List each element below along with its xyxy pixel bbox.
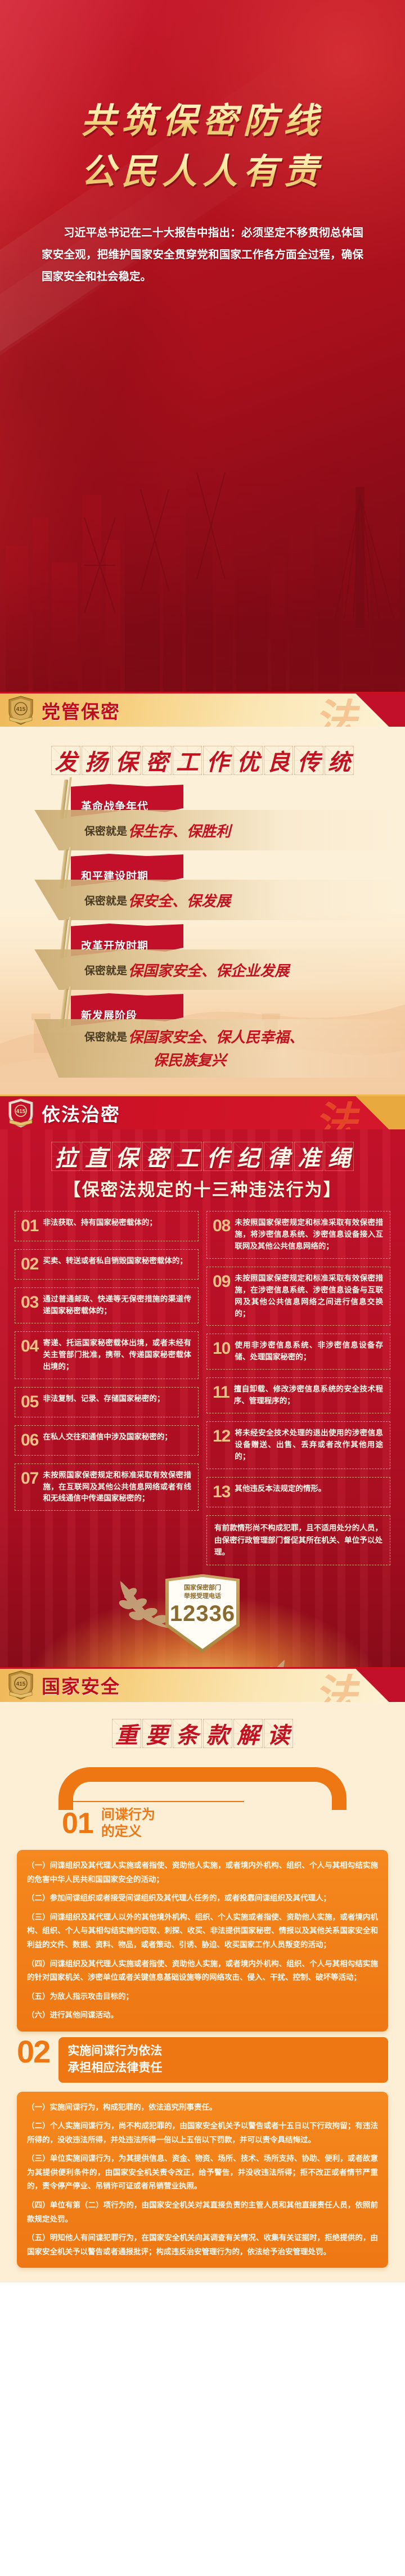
article-02-number: 02 <box>17 2037 49 2066</box>
violation-number: 06 <box>21 1431 38 1449</box>
violation-number: 13 <box>213 1483 230 1501</box>
section-header-rule-of-law: 415 依法治密 法 <box>0 1095 405 1129</box>
brush-char: 拉 <box>51 1142 80 1171</box>
violation-item: 05 非法复制、记录、存储国家秘密的； <box>15 1387 199 1417</box>
article-01-title-line-2: 的定义 <box>101 1823 155 1841</box>
violation-item: 09 未按照国家保密规定和标准采取有效保密措施，在涉密信息系统、涉密信息设备与互… <box>206 1267 390 1326</box>
laurel-right-icon <box>226 1653 294 1667</box>
violation-number: 07 <box>21 1470 38 1487</box>
brush-char: 保 <box>112 1142 141 1171</box>
article-02-content: （一）实施间谍行为，构成犯罪的，依法追究刑事责任。 （二）个人实施间谍行为，尚不… <box>17 2092 388 2268</box>
article-01-paragraph: （六）进行其他间谍活动。 <box>27 2008 378 2023</box>
brush-char: 优 <box>233 746 263 775</box>
brush-char: 扬 <box>82 746 111 775</box>
header-corner-accent <box>339 692 405 727</box>
article-02-title-line-1: 实施间谍行为依法 <box>67 2043 379 2060</box>
shield-badge-icon: 415 <box>8 1098 34 1128</box>
brush-char: 款 <box>203 1719 232 1748</box>
brush-char: 良 <box>264 746 293 775</box>
violation-text: 通过普通邮政、快递等无保密措施的渠道传递国家秘密载体的； <box>43 1294 191 1317</box>
violation-item: 12 将未经安全技术处理的退出使用的涉密信息设备赠送、出售、丢弃或者改作其他用途… <box>206 1421 390 1469</box>
article-01-heading: 01 间谍行为 的定义 <box>58 1801 244 1841</box>
era-prefix: 保密就是 <box>84 965 127 977</box>
law-subtitle: 【保密法规定的十三种违法行为】 <box>0 1176 405 1201</box>
violation-text: 未按照国家保密规定和标准采取有效保密措施，将涉密信息系统、涉密信息设备接入互联网… <box>235 1217 383 1253</box>
era-list: 革命战争年代 保密就是保生存、保胜利 和平建设时期 <box>0 781 405 1095</box>
violation-text: 其他违反本法规定的情形。 <box>235 1483 326 1495</box>
violation-item: 02 买卖、转送或者私自销毁国家秘密载体的； <box>15 1249 199 1280</box>
brush-char: 律 <box>264 1142 293 1171</box>
era-highlight: 保国家安全、保企业发展 <box>128 963 289 979</box>
article-02-paragraph: （二）个人实施间谍行为，尚不构成犯罪的，由国家安全机关予以警告或者十五日以下行政… <box>27 2119 378 2147</box>
brush-char: 绳 <box>325 1142 354 1171</box>
violation-text: 未按照国家保密规定和标准采取有效保密措施，在涉密信息系统、涉密信息设备与互联网及… <box>235 1273 383 1320</box>
era-prefix: 保密就是 <box>84 826 127 837</box>
violation-number: 12 <box>213 1427 230 1445</box>
violation-text: 使用非涉密信息系统、非涉密信息设备存储、处理国家秘密的； <box>235 1340 383 1363</box>
violation-text: 将未经安全技术处理的退出使用的涉密信息设备赠送、出售、丢弃或者改作其他用途的； <box>235 1427 383 1463</box>
article-02-paragraph: （五）明知他人有间谍犯罪行为，在国家安全机关向其调查有关情况、收集有关证据时，拒… <box>27 2231 378 2259</box>
era-item: 改革开放时期 保密就是保国家安全、保企业发展 <box>0 922 405 990</box>
brush-char: 解 <box>233 1719 263 1748</box>
brush-char: 发 <box>51 746 80 775</box>
violation-number: 10 <box>213 1340 230 1357</box>
article-02-title-line-2: 承担相应法律责任 <box>67 2060 379 2077</box>
violation-text: 寄递、托运国家秘密载体出境，或者未经有关主管部门批准，携带、传递国家秘密载体出境… <box>43 1337 191 1373</box>
hero-title-line-1: 共筑保密防线 <box>0 97 405 147</box>
brush-title-tradition: 发扬保密工作优良传统 <box>0 727 405 781</box>
brush-char: 统 <box>325 746 354 775</box>
article-01-content: （一）间谍组织及其代理人实施或者指使、资助他人实施，或者境内外机构、组织、个人与… <box>17 1850 388 2032</box>
header-corner-accent <box>339 1667 405 1702</box>
svg-text:415: 415 <box>16 706 26 713</box>
brush-title-key-articles: 重要条款解读 <box>0 1702 405 1751</box>
violation-text: 擅自卸载、修改涉密信息系统的安全技术程序、管理程序的； <box>234 1384 383 1407</box>
brush-char: 读 <box>264 1719 293 1748</box>
brush-char: 作 <box>203 746 232 775</box>
page-title: 共筑保密防线 公民人人有责 <box>0 97 405 198</box>
report-hotline-badge: 国家保密部门 举报受理电话 12336 <box>165 1574 240 1653</box>
era-item: 新发展阶段 保密就是保国家安全、保人民幸福、 保民族复兴 <box>0 992 405 1078</box>
violation-item: 01 非法获取、持有国家秘密载体的； <box>15 1211 199 1241</box>
hero-bottom-fade <box>0 624 405 692</box>
article-01-paragraph: （二）参加间谍组织或者接受间谍组织及其代理人任务的，或者投靠间谍组织及其代理人； <box>27 1892 378 1906</box>
violation-number: 09 <box>213 1273 230 1290</box>
hero-banner: 共筑保密防线 公民人人有责 习近平总书记在二十大报告中指出：必须坚定不移贯彻总体… <box>0 0 405 692</box>
violations-list: 01 非法获取、持有国家秘密载体的； 02 买卖、转送或者私自销毁国家秘密载体的… <box>0 1211 405 1565</box>
article-01-title: 间谍行为 的定义 <box>101 1807 155 1841</box>
era-highlight: 保生存、保胜利 <box>128 823 231 840</box>
brush-char: 作 <box>203 1142 232 1171</box>
violation-number: 02 <box>21 1255 38 1273</box>
svg-text:415: 415 <box>16 1681 26 1687</box>
brush-char: 纪 <box>233 1142 263 1171</box>
article-01-title-line-1: 间谍行为 <box>101 1807 155 1824</box>
article-01-paragraph: （五）为敌人指示攻击目标的； <box>27 1990 378 2004</box>
article-02-title: 实施间谍行为依法 承担相应法律责任 <box>58 2037 388 2083</box>
violation-number: 01 <box>21 1217 38 1235</box>
article-01: 01 间谍行为 的定义 <box>0 1767 405 1841</box>
party-secrecy-body: 发扬保密工作优良传统 革命战争年代 保密就是保生存、保胜利 <box>0 727 405 1095</box>
article-02-paragraph: （三）单位实施间谍行为，为其提供信息、资金、物资、场所、技术、场所支持、协助、便… <box>27 2152 378 2194</box>
violation-item: 13 其他违反本法规定的情形。 <box>206 1477 390 1507</box>
brush-char: 保 <box>112 746 141 775</box>
violation-item: 04 寄递、托运国家秘密载体出境，或者未经有关主管部门批准，携带、传递国家秘密载… <box>15 1331 199 1379</box>
section-title-national-security: 国家安全 <box>42 1672 120 1699</box>
violation-text: 非法获取、持有国家秘密载体的； <box>43 1217 157 1229</box>
era-prefix: 保密就是 <box>84 1032 127 1043</box>
era-item: 革命战争年代 保密就是保生存、保胜利 <box>0 783 405 850</box>
violation-number: 03 <box>21 1294 38 1311</box>
article-02-paragraph: （四）单位有第（二）项行为的，由国家安全机关对其直接负责的主管人员和其他直接责任… <box>27 2199 378 2226</box>
brush-char: 密 <box>142 1142 172 1171</box>
brush-char: 准 <box>294 1142 323 1171</box>
article-01-paragraph: （三）间谍组织及其代理人以外的其他境外机构、组织、个人实施或者指使、资助他人实施… <box>27 1911 378 1952</box>
hotline-number: 12336 <box>170 1602 235 1625</box>
violation-item: 07 未按照国家保密规定和标准采取有效保密措施，在互联网及其他公共信息网络或者有… <box>15 1463 199 1511</box>
article-02-heading: 02 实施间谍行为依法 承担相应法律责任 <box>17 2037 388 2083</box>
violation-item: 08 未按照国家保密规定和标准采取有效保密措施，将涉密信息系统、涉密信息设备接入… <box>206 1211 390 1259</box>
violation-item: 06 在私人交往和通信中涉及国家秘密的； <box>15 1425 199 1456</box>
brush-char: 条 <box>173 1719 202 1748</box>
violations-note: 有前款情形尚不构成犯罪，且不适用处分的人员，由保密行政管理部门督促其所在机关、单… <box>206 1515 390 1565</box>
hotline-label-line-2: 举报受理电话 <box>184 1592 221 1601</box>
poster-root: 共筑保密防线 公民人人有责 习近平总书记在二十大报告中指出：必须坚定不移贯彻总体… <box>0 0 405 2282</box>
hero-title-line-2: 公民人人有责 <box>0 147 405 198</box>
section-title-rule-of-law: 依法治密 <box>42 1100 120 1127</box>
brush-char: 重 <box>112 1719 141 1748</box>
violation-text: 在私人交往和通信中涉及国家秘密的； <box>43 1431 172 1443</box>
violation-number: 05 <box>21 1393 38 1411</box>
article-01-paragraph: （四）间谍组织及其代理人实施或者指使、资助他人实施，或者境内外机构、组织、个人与… <box>27 1957 378 1985</box>
era-prefix: 保密就是 <box>84 895 127 907</box>
svg-text:415: 415 <box>16 1109 26 1115</box>
hero-quote-text: 习近平总书记在二十大报告中指出：必须坚定不移贯彻总体国家安全观，把维护国家安全贯… <box>42 222 363 288</box>
violation-number: 11 <box>213 1384 229 1401</box>
violation-number: 04 <box>21 1337 38 1355</box>
violation-number: 08 <box>213 1217 230 1235</box>
national-security-body: 重要条款解读 01 间谍行为 的定义 （一）间谍组织及其代理人实施或者指使、资助… <box>0 1702 405 2283</box>
section-header-party-secrecy: 415 党管保密 法 <box>0 692 405 727</box>
violation-item: 11 擅自卸载、修改涉密信息系统的安全技术程序、管理程序的； <box>206 1377 390 1413</box>
violation-text: 非法复制、记录、存储国家秘密的； <box>43 1393 164 1405</box>
violation-text: 买卖、转送或者私自销毁国家秘密载体的； <box>43 1255 187 1267</box>
brush-char: 工 <box>173 746 202 775</box>
shield-badge-icon: 415 <box>8 696 34 725</box>
violation-text: 未按照国家保密规定和标准采取有效保密措施，在互联网及其他公共信息网络或者有线和无… <box>43 1470 191 1505</box>
brush-char: 要 <box>142 1719 172 1748</box>
article-01-number: 01 <box>62 1809 93 1838</box>
era-item: 和平建设时期 保密就是保安全、保发展 <box>0 853 405 920</box>
header-corner-accent <box>339 1095 405 1129</box>
shield-badge-icon: 415 <box>8 1670 34 1700</box>
violation-item: 03 通过普通邮政、快递等无保密措施的渠道传递国家秘密载体的； <box>15 1287 199 1323</box>
hotline-label-line-1: 国家保密部门 <box>184 1584 221 1592</box>
brush-char: 传 <box>294 746 323 775</box>
era-highlight: 保国家安全、保人民幸福、 <box>128 1029 304 1046</box>
rule-of-law-body: 拉直保密工作纪律准绳 【保密法规定的十三种违法行为】 01 非法获取、持有国家秘… <box>0 1129 405 1667</box>
era-highlight-2: 保民族复兴 <box>153 1049 304 1070</box>
section-title-party-secrecy: 党管保密 <box>42 697 120 724</box>
brush-char: 直 <box>82 1142 111 1171</box>
era-highlight: 保安全、保发展 <box>128 893 231 909</box>
violation-item: 10 使用非涉密信息系统、非涉密信息设备存储、处理国家秘密的； <box>206 1334 390 1370</box>
brush-char: 工 <box>173 1142 202 1171</box>
article-02-paragraph: （一）实施间谍行为，构成犯罪的，依法追究刑事责任。 <box>27 2101 378 2115</box>
brush-char: 密 <box>142 746 172 775</box>
brush-title-discipline: 拉直保密工作纪律准绳 <box>0 1129 405 1174</box>
violations-column-left: 01 非法获取、持有国家秘密载体的； 02 买卖、转送或者私自销毁国家秘密载体的… <box>15 1211 199 1511</box>
violations-column-right: 08 未按照国家保密规定和标准采取有效保密措施，将涉密信息系统、涉密信息设备接入… <box>206 1211 390 1565</box>
article-01-paragraph: （一）间谍组织及其代理人实施或者指使、资助他人实施，或者境内外机构、组织、个人与… <box>27 1859 378 1886</box>
section-header-national-security: 415 国家安全 法 <box>0 1667 405 1702</box>
